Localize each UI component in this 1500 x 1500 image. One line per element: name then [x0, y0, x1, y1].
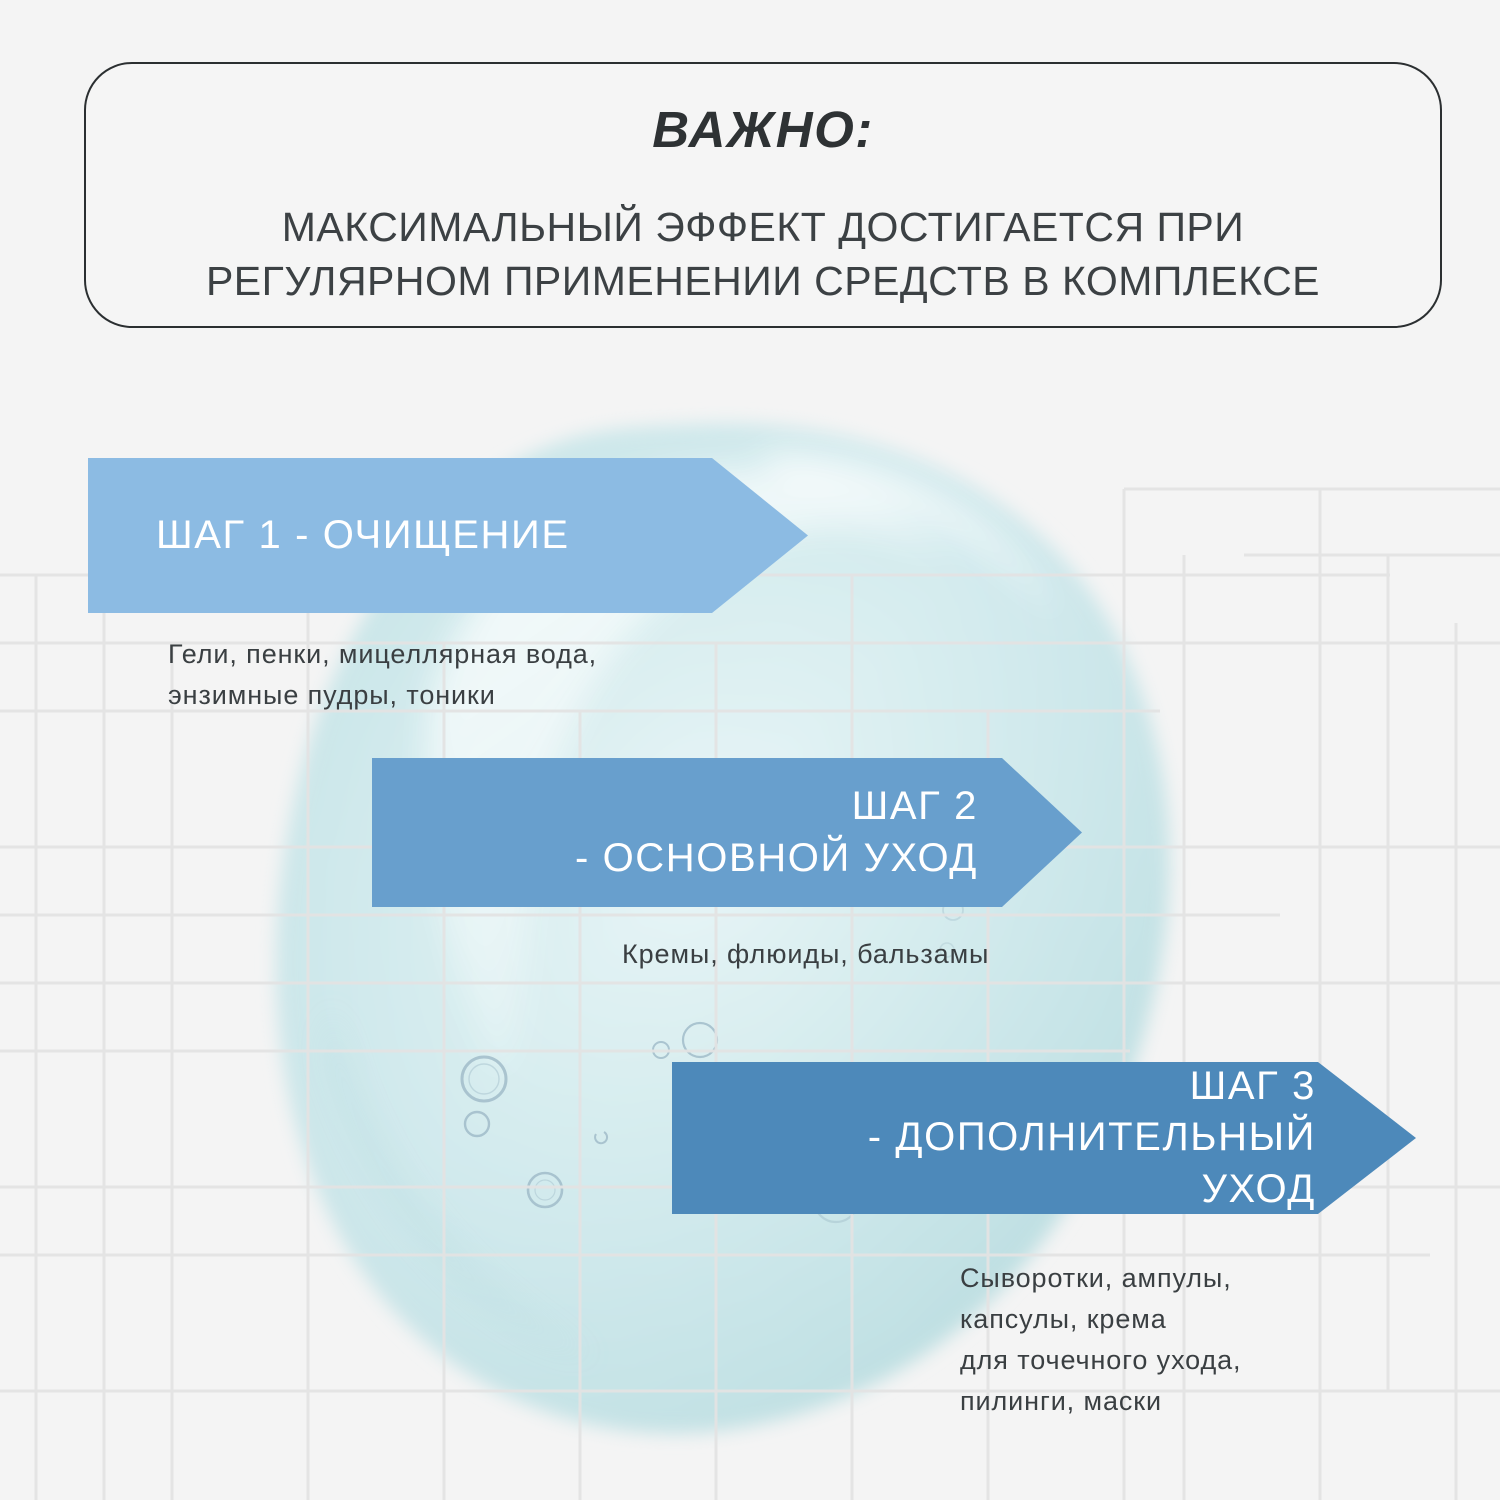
step-1-caption: Гели, пенки, мицеллярная вода, энзимные … — [168, 634, 597, 716]
step-2-caption: Кремы, флюиды, бальзамы — [622, 934, 989, 975]
callout-title: ВАЖНО: — [652, 102, 874, 158]
important-callout-box: ВАЖНО: МАКСИМАЛЬНЫЙ ЭФФЕКТ ДОСТИГАЕТСЯ П… — [84, 62, 1442, 328]
step-3-label: ШАГ 3 - ДОПОЛНИТЕЛЬНЫЙ УХОД — [732, 1061, 1316, 1215]
step-1-label: ШАГ 1 - ОЧИЩЕНИЕ — [156, 510, 698, 561]
callout-subtitle: МАКСИМАЛЬНЫЙ ЭФФЕКТ ДОСТИГАЕТСЯ ПРИ РЕГУ… — [143, 200, 1383, 308]
step-2-arrow: ШАГ 2 - ОСНОВНОЙ УХОД — [372, 758, 1082, 907]
step-1-arrow: ШАГ 1 - ОЧИЩЕНИЕ — [88, 458, 808, 613]
step-2-label: ШАГ 2 - ОСНОВНОЙ УХОД — [432, 781, 978, 883]
step-3-caption: Сыворотки, ампулы, капсулы, крема для то… — [960, 1258, 1241, 1422]
infographic-canvas: ВАЖНО: МАКСИМАЛЬНЫЙ ЭФФЕКТ ДОСТИГАЕТСЯ П… — [0, 0, 1500, 1500]
step-3-arrow: ШАГ 3 - ДОПОЛНИТЕЛЬНЫЙ УХОД — [672, 1062, 1416, 1214]
